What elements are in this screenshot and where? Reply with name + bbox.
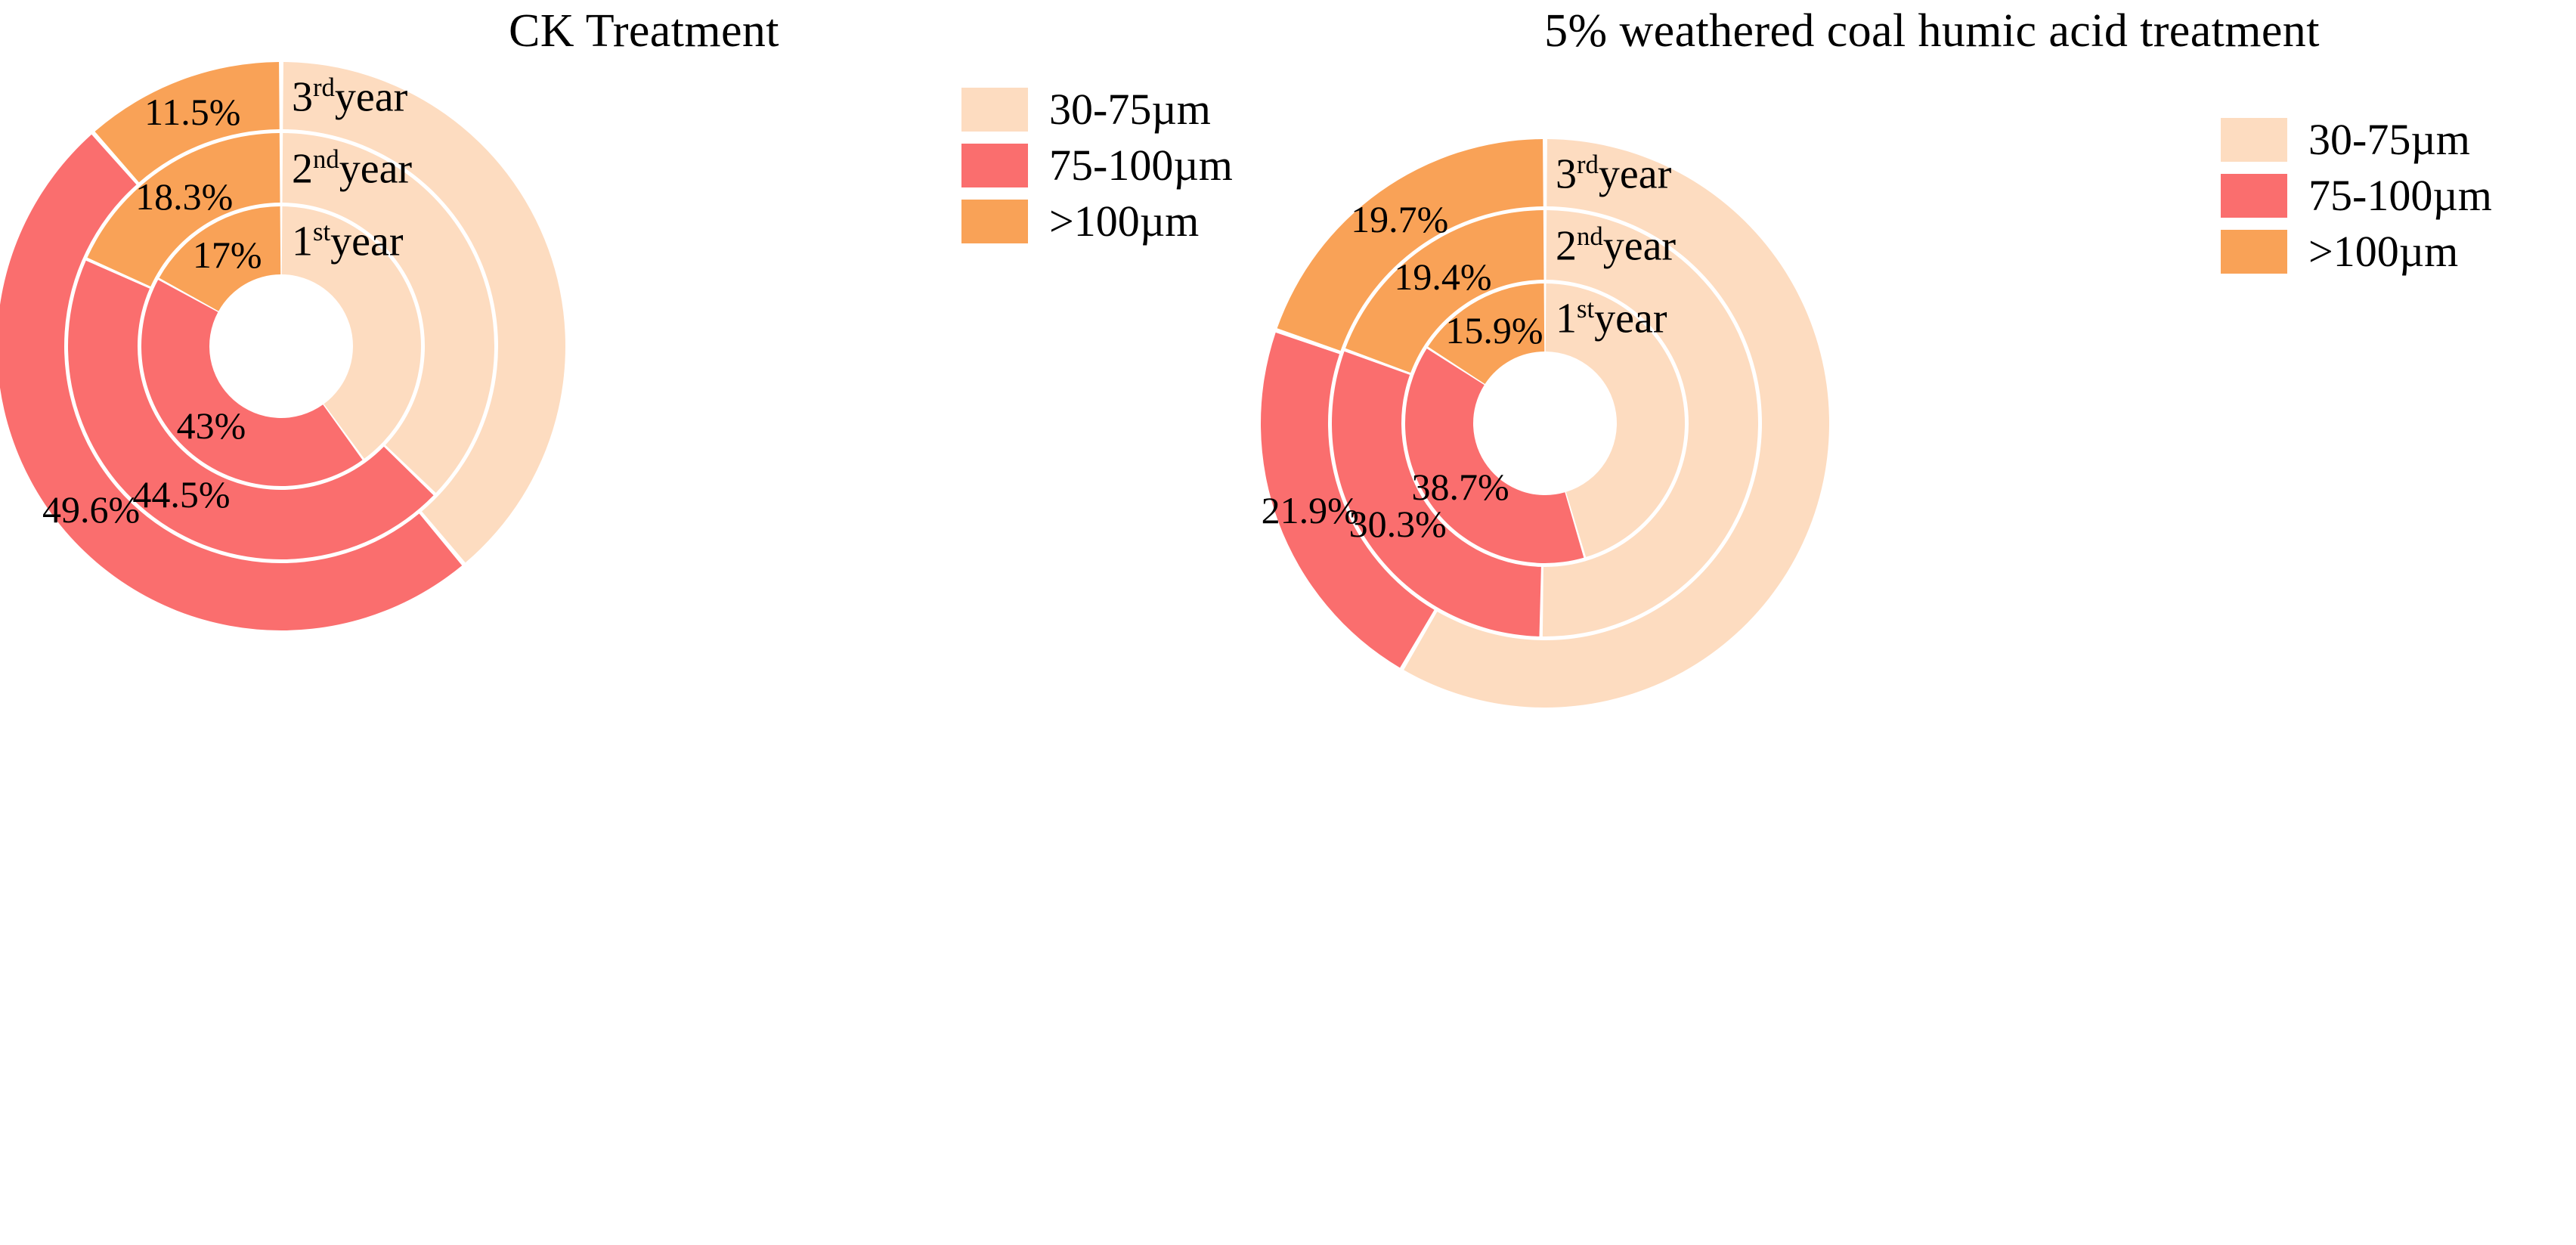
year-label-1: 1styear	[292, 219, 404, 263]
legend-label-75-100: 75-100µm	[1049, 144, 1233, 187]
legend-item-over-100[interactable]: >100µm	[2221, 224, 2492, 280]
percent-label-1st-year-75-100um: 43%	[177, 407, 246, 444]
legend-label-over-100: >100µm	[2308, 230, 2458, 274]
percent-label-2nd-year-over-100um: 18.3%	[135, 178, 233, 215]
year-label-1: 1styear	[1556, 296, 1667, 340]
sunburst-chart-humic-acid	[1258, 136, 1832, 711]
percent-label-1st-year-75-100um: 38.7%	[1411, 468, 1509, 506]
legend-label-30-75: 30-75µm	[2308, 118, 2470, 162]
chart-title-left: CK Treatment	[0, 5, 1288, 58]
year-label-2: 2ndyear	[1556, 224, 1676, 268]
legend-label-over-100: >100µm	[1049, 200, 1199, 243]
legend-swatch-over-100	[2221, 230, 2287, 274]
legend-swatch-over-100	[961, 200, 1028, 243]
legend-swatch-30-75	[2221, 118, 2287, 162]
year-label-3: 3rdyear	[1556, 152, 1671, 196]
legend-swatch-30-75	[961, 88, 1028, 132]
year-label-2: 2ndyear	[292, 147, 412, 190]
legend-item-over-100[interactable]: >100µm	[961, 194, 1233, 249]
legend-humic-acid: 30-75µm 75-100µm >100µm	[2221, 112, 2492, 280]
percent-label-3rd-year-over-100um: 19.7%	[1351, 200, 1448, 238]
legend-swatch-75-100	[2221, 174, 2287, 218]
legend-label-30-75: 30-75µm	[1049, 88, 1211, 132]
percent-label-3rd-year-over-100um: 11.5%	[144, 93, 240, 131]
percent-label-2nd-year-75-100um: 44.5%	[132, 475, 230, 513]
legend-item-30-75[interactable]: 30-75µm	[961, 82, 1233, 138]
legend-item-75-100[interactable]: 75-100µm	[961, 138, 1233, 194]
sunburst-chart-ck	[0, 59, 568, 633]
legend-ck: 30-75µm 75-100µm >100µm	[961, 82, 1233, 249]
percent-label-1st-year-over-100um: 15.9%	[1445, 311, 1543, 349]
legend-swatch-75-100	[961, 144, 1028, 187]
percent-label-3rd-year-75-100um: 49.6%	[42, 491, 140, 528]
panel-ck: CK Treatment 30-75µm 75-100µm >100µm 1st…	[0, 0, 1288, 1245]
percent-label-2nd-year-over-100um: 19.4%	[1394, 258, 1491, 296]
percent-label-2nd-year-75-100um: 30.3%	[1349, 505, 1447, 543]
year-label-3: 3rdyear	[292, 75, 407, 119]
chart-title-right: 5% weathered coal humic acid treatment	[1288, 5, 2576, 58]
percent-label-3rd-year-75-100um: 21.9%	[1262, 491, 1359, 529]
legend-item-75-100[interactable]: 75-100µm	[2221, 168, 2492, 224]
legend-label-75-100: 75-100µm	[2308, 174, 2492, 218]
percent-label-1st-year-over-100um: 17%	[193, 236, 262, 274]
legend-item-30-75[interactable]: 30-75µm	[2221, 112, 2492, 168]
